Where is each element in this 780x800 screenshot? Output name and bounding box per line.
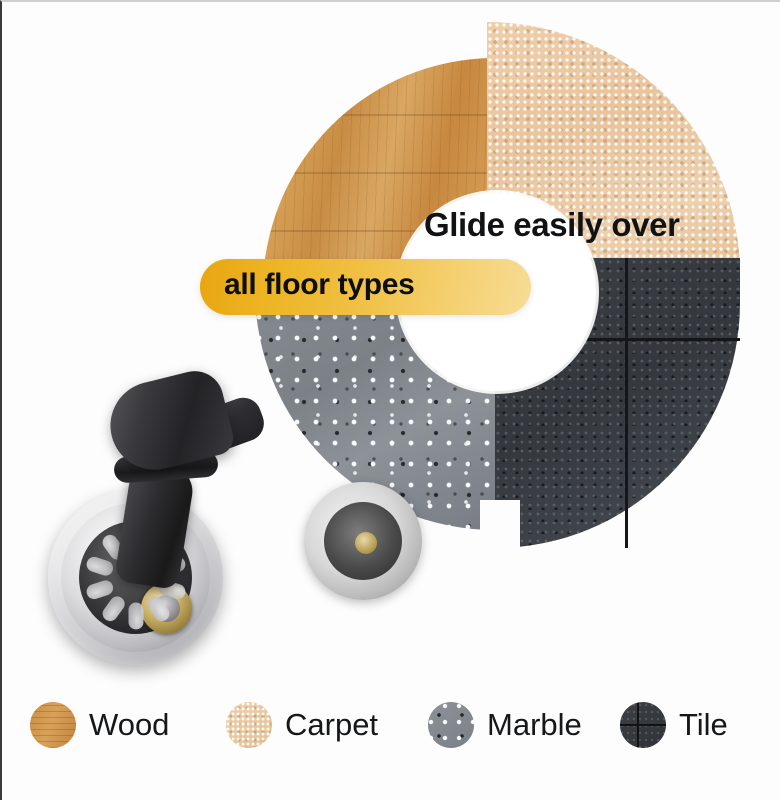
floor-type-legend: Wood Carpet Marble Tile (30, 694, 760, 756)
legend-label-tile: Tile (679, 707, 728, 743)
legend-item-wood: Wood (30, 702, 226, 748)
marble-segment-corner-cut (480, 500, 520, 560)
legend-item-marble: Marble (428, 702, 620, 748)
carpet-swatch-icon (226, 702, 272, 748)
legend-label-marble: Marble (487, 707, 582, 743)
secondary-wheel-bearing (355, 532, 377, 554)
wheel-spoke-hole (84, 578, 114, 601)
secondary-wheel-hub (324, 502, 402, 580)
tile-swatch-grout-horizontal (620, 724, 666, 726)
secondary-wheel (304, 482, 422, 600)
tile-swatch-icon (620, 702, 666, 748)
wheel-spoke-hole (84, 554, 114, 577)
marble-swatch-icon (428, 702, 474, 748)
legend-item-carpet: Carpet (226, 702, 428, 748)
legend-item-tile: Tile (620, 702, 760, 748)
product-marketing-banner: Glide easily over all floor types Wood C… (0, 0, 780, 800)
headline-pill-badge: all floor types (200, 259, 531, 315)
wheel-spoke-hole (99, 593, 127, 624)
headline-pill-label: all floor types (224, 268, 415, 302)
wood-swatch-icon (30, 702, 76, 748)
legend-label-wood: Wood (89, 707, 169, 743)
caster-wheel-product (38, 372, 308, 672)
headline-primary: Glide easily over (424, 206, 680, 244)
legend-label-carpet: Carpet (285, 707, 378, 743)
tile-grout-line-vertical (625, 258, 628, 548)
wheel-spoke-hole (128, 602, 143, 629)
